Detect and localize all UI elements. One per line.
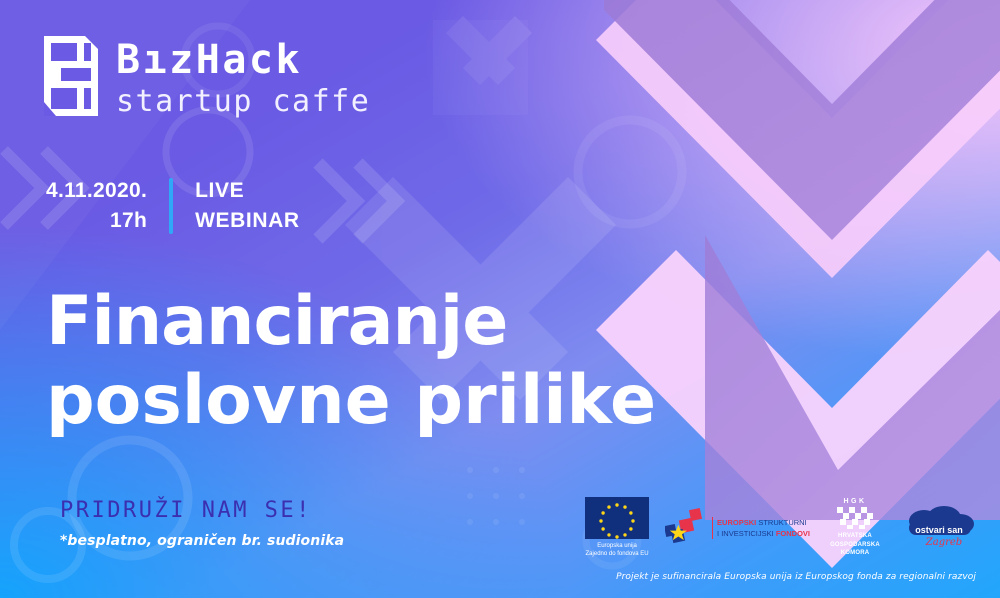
- sponsor-eu: Europska unija Zajedno do fondova EU: [585, 497, 649, 559]
- cta-title: PRIDRUŽI NAM SE!: [60, 500, 344, 522]
- esi-line2-rest: I INVESTICIJSKI: [717, 529, 774, 538]
- eu-caption: Europska unija Zajedno do fondova EU: [586, 542, 649, 559]
- hgk-name-line2: GOSPODARSKA: [826, 541, 884, 550]
- eu-flag-icon: [585, 497, 649, 539]
- esi-line1-strong: EUROPSKI: [717, 518, 756, 527]
- chevron-mid-right: [318, 163, 396, 239]
- sponsor-hgk: HGK HRVATSKA GOSPODARSKA KOMORA: [826, 498, 884, 558]
- esi-squares-icon: [665, 507, 709, 549]
- headline-line1: Financiranje: [46, 283, 656, 362]
- hgk-name-line3: KOMORA: [826, 549, 884, 558]
- brand-tagline: startup caffe: [116, 85, 370, 120]
- esi-line1-rest: STRUKTURNI: [758, 518, 806, 527]
- event-type-line2: WEBINAR: [195, 206, 300, 236]
- croatian-checkerboard-icon: [837, 507, 873, 529]
- eu-caption-line2: Zajedno do fondova EU: [586, 550, 649, 558]
- event-date: 4.11.2020. 17h: [46, 176, 169, 236]
- headline-line2: poslovne prilike: [46, 362, 656, 441]
- event-date-line2: 17h: [46, 206, 147, 236]
- sponsor-logos: Europska unija Zajedno do fondova EU EUR…: [585, 497, 978, 559]
- event-date-line1: 4.11.2020.: [46, 176, 147, 206]
- brand-wordmark: BızHack: [116, 40, 370, 80]
- page-title: Financiranje poslovne prilike: [46, 283, 656, 441]
- esi-line2-strong: FONDOVI: [776, 529, 810, 538]
- hgk-name: HRVATSKA GOSPODARSKA KOMORA: [826, 532, 884, 558]
- ostvari-san-cloud-icon: ostvari san Zagreb: [900, 505, 978, 551]
- ostvari-text-main: ostvari san: [915, 525, 963, 535]
- hgk-name-line1: HRVATSKA: [826, 532, 884, 541]
- event-meta: 4.11.2020. 17h LIVE WEBINAR: [46, 176, 300, 236]
- dot-grid: [467, 467, 525, 525]
- chevron-dark-top: [604, 0, 1000, 240]
- eu-caption-line1: Europska unija: [586, 542, 649, 550]
- cta-block: PRIDRUŽI NAM SE! *besplatno, ograničen b…: [60, 500, 344, 549]
- footer-funding-note: Projekt je sufinancirala Europska unija …: [616, 572, 976, 582]
- event-type-line1: LIVE: [195, 176, 300, 206]
- x-square-motif: [433, 16, 532, 115]
- event-type: LIVE WEBINAR: [173, 176, 300, 236]
- bizhack-b-mark-icon: [44, 36, 98, 116]
- chevron-dark-bottom: [705, 235, 1000, 520]
- cta-note: *besplatno, ograničen br. sudionika: [60, 533, 344, 549]
- ostvari-text-script: Zagreb: [925, 537, 962, 548]
- chevron-light-band: [596, 0, 1000, 568]
- promo-banner: BızHack startup caffe 4.11.2020. 17h LIV…: [0, 0, 1000, 598]
- hgk-initials: HGK: [826, 498, 884, 505]
- brand-logo: BızHack startup caffe: [44, 36, 370, 120]
- sponsor-esi: EUROPSKI STRUKTURNI I INVESTICIJSKI FOND…: [665, 507, 810, 549]
- esi-text: EUROPSKI STRUKTURNI I INVESTICIJSKI FOND…: [712, 517, 810, 540]
